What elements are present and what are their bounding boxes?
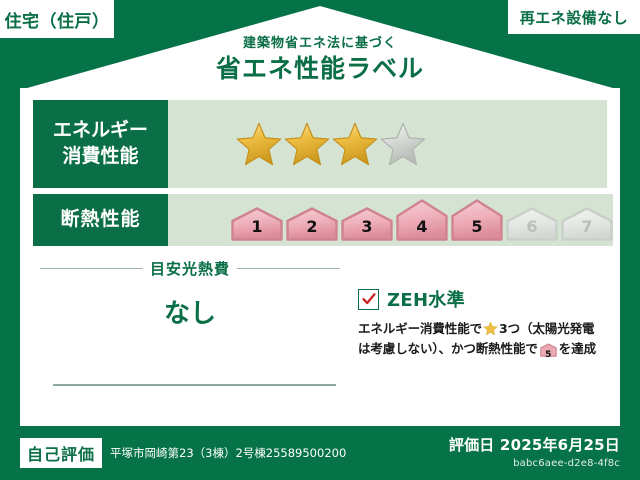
cost-rule-right [237, 268, 340, 269]
zeh-description: エネルギー消費性能で3つ（太陽光発電は考慮しない）、かつ断熱性能で5を達成 [358, 319, 610, 364]
insulation-level-badge: 3 [341, 207, 393, 241]
evaluation-id: babc6aee-d2e8-4f8c [449, 458, 620, 469]
zeh-title: ZEH水準 [387, 286, 465, 312]
insulation-level-number: 1 [231, 217, 283, 236]
label-body-panel: エネルギー 消費性能 断熱性能 1234567 目安光熱費 なし [20, 88, 620, 426]
insulation-level-number: 6 [506, 217, 558, 236]
energy-performance-value [168, 100, 607, 188]
inline-star-icon [483, 321, 498, 336]
zeh-title-row: ZEH水準 [358, 286, 610, 312]
star-empty-icon [380, 121, 426, 167]
cost-rule-left [40, 268, 143, 269]
zeh-desc-part1: エネルギー消費性能で [358, 321, 482, 336]
insulation-level-badge: 6 [506, 207, 558, 241]
insulation-level-badge: 7 [561, 207, 613, 241]
footer-left-group: 自己評価 平塚市岡崎第23（3棟）2号棟25589500200 [20, 438, 346, 468]
insulation-level-number: 2 [286, 217, 338, 236]
cost-bottom-divider [53, 384, 336, 386]
zeh-desc-part4: を達成 [559, 341, 596, 356]
insulation-level-badge: 1 [231, 207, 283, 241]
insulation-performance-row: 断熱性能 1234567 [33, 194, 607, 246]
energy-performance-row: エネルギー 消費性能 [33, 100, 607, 188]
evaluation-date: 評価日 2025年6月25日 [449, 434, 620, 455]
insulation-level-badge: 4 [396, 199, 448, 241]
insulation-performance-key: 断熱性能 [33, 194, 168, 246]
energy-key-line1: エネルギー [53, 118, 148, 144]
building-type-tag: 住宅（住戸） [0, 0, 114, 38]
inline-house-badge: 5 [540, 343, 557, 363]
energy-performance-label: 住宅（住戸） 再エネ設備なし 建築物省エネ法に基づく 省エネ性能ラベル エネルギ… [0, 0, 640, 480]
utility-cost-header: 目安光熱費 [40, 258, 340, 279]
insulation-level-number: 5 [451, 217, 503, 236]
zeh-standard-block: ZEH水準 エネルギー消費性能で3つ（太陽光発電は考慮しない）、かつ断熱性能で5… [358, 286, 610, 364]
zeh-desc-part3: は考慮しない）、かつ断熱性能で [358, 341, 538, 356]
star-filled-icon [284, 121, 330, 167]
insulation-level-number: 4 [396, 217, 448, 236]
energy-performance-key: エネルギー 消費性能 [33, 100, 168, 188]
star-filled-icon [236, 121, 282, 167]
insulation-key-label: 断熱性能 [60, 207, 140, 233]
footer-right-group: 評価日 2025年6月25日 babc6aee-d2e8-4f8c [449, 434, 620, 469]
check-icon [362, 292, 376, 306]
property-address: 平塚市岡崎第23（3棟）2号棟25589500200 [110, 445, 346, 461]
self-evaluation-badge: 自己評価 [20, 438, 102, 468]
zeh-checkbox[interactable] [358, 289, 379, 310]
inline-house-number: 5 [540, 348, 557, 363]
star-rating [168, 121, 426, 167]
zeh-desc-part2: 3つ（太陽光発電 [499, 321, 594, 336]
utility-cost-value: なし [40, 293, 340, 330]
energy-key-line2: 消費性能 [62, 144, 138, 170]
insulation-performance-value: 1234567 [168, 194, 613, 246]
star-filled-icon [332, 121, 378, 167]
insulation-level-scale: 1234567 [168, 199, 613, 241]
insulation-level-number: 7 [561, 217, 613, 236]
insulation-level-number: 3 [341, 217, 393, 236]
insulation-level-badge: 2 [286, 207, 338, 241]
renewable-equipment-tag: 再エネ設備なし [508, 0, 640, 34]
utility-cost-title: 目安光熱費 [150, 258, 230, 279]
label-footer: 自己評価 平塚市岡崎第23（3棟）2号棟25589500200 評価日 2025… [0, 426, 640, 480]
insulation-level-badge: 5 [451, 199, 503, 241]
